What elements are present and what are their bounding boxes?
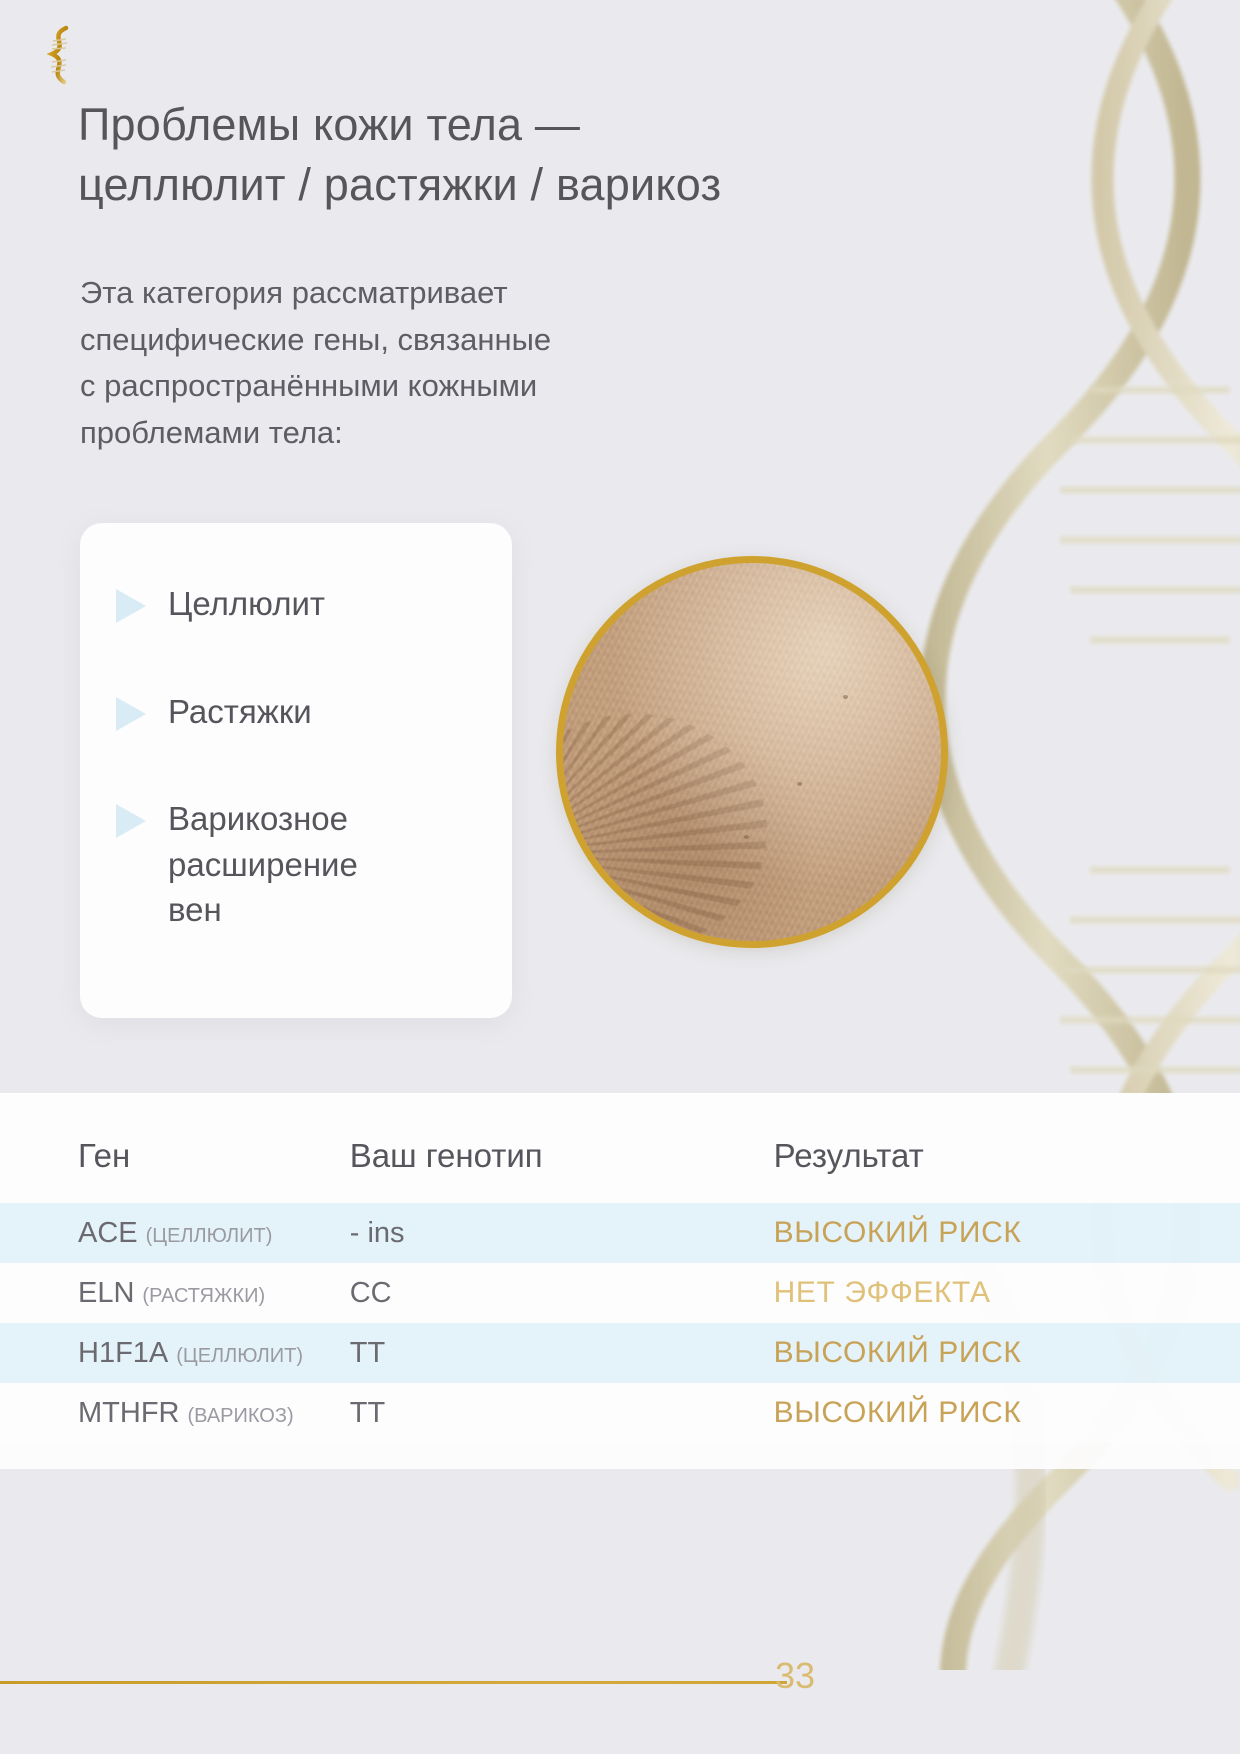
cell-result: ВЫСОКИЙ РИСК (774, 1383, 1240, 1443)
table-row: ACE(ЦЕЛЛЮЛИТ) - ins ВЫСОКИЙ РИСК (0, 1203, 1240, 1263)
cell-gene: ELN(РАСТЯЖКИ) (0, 1263, 350, 1323)
gene-results-section: Ген Ваш генотип Результат ACE(ЦЕЛЛЮЛИТ) … (0, 1093, 1240, 1469)
column-header-genotype: Ваш генотип (350, 1093, 774, 1203)
status-badge: ВЫСОКИЙ РИСК (774, 1396, 1022, 1429)
intro-line-4: проблемами тела: (80, 410, 840, 457)
cellulite-skin-photo (556, 556, 948, 948)
triangle-bullet-icon (116, 804, 146, 838)
triangle-bullet-icon (116, 589, 146, 623)
gene-name: H1F1A (78, 1337, 168, 1369)
intro-line-3: с распространёнными кожными (80, 363, 840, 410)
list-item: Растяжки (104, 689, 478, 735)
status-badge: ВЫСОКИЙ РИСК (774, 1336, 1022, 1369)
gene-note: (РАСТЯЖКИ) (142, 1285, 265, 1307)
skin-highlight-layer (563, 563, 941, 941)
footer-divider (0, 1681, 787, 1684)
column-header-result: Результат (774, 1093, 1240, 1203)
cell-genotype: TT (350, 1323, 774, 1383)
triangle-bullet-icon (116, 697, 146, 731)
intro-line-1: Эта категория рассматривает (80, 270, 840, 317)
cell-result: ВЫСОКИЙ РИСК (774, 1203, 1240, 1263)
list-item-label: Целлюлит (168, 581, 325, 627)
gene-name: ACE (78, 1217, 138, 1249)
page-title-line-1: Проблемы кожи тела — (78, 95, 938, 155)
list-item: Целлюлит (104, 581, 478, 627)
gene-note: (ЦЕЛЛЮЛИТ) (176, 1345, 303, 1367)
cell-genotype: TT (350, 1383, 774, 1443)
table-row: MTHFR(ВАРИКОЗ) TT ВЫСОКИЙ РИСК (0, 1383, 1240, 1443)
table-row: ELN(РАСТЯЖКИ) CC НЕТ ЭФФЕКТА (0, 1263, 1240, 1323)
dna-helix-logo-icon (36, 24, 82, 86)
cell-genotype: CC (350, 1263, 774, 1323)
gene-note: (ЦЕЛЛЮЛИТ) (146, 1225, 273, 1247)
intro-line-2: специфические гены, связанные (80, 317, 840, 364)
table-body: ACE(ЦЕЛЛЮЛИТ) - ins ВЫСОКИЙ РИСК ELN(РАС… (0, 1203, 1240, 1443)
gene-name: MTHFR (78, 1397, 179, 1429)
cell-gene: ACE(ЦЕЛЛЮЛИТ) (0, 1203, 350, 1263)
list-item-label: Растяжки (168, 689, 312, 735)
cell-result: ВЫСОКИЙ РИСК (774, 1323, 1240, 1383)
table-row: H1F1A(ЦЕЛЛЮЛИТ) TT ВЫСОКИЙ РИСК (0, 1323, 1240, 1383)
page-title-line-2: целлюлит / растяжки / варикоз (78, 155, 938, 215)
table-header: Ген Ваш генотип Результат (0, 1093, 1240, 1203)
intro-paragraph: Эта категория рассматривает специфически… (80, 270, 840, 456)
status-badge: ВЫСОКИЙ РИСК (774, 1216, 1022, 1249)
gene-note: (ВАРИКОЗ) (187, 1405, 293, 1427)
table-header-row: Ген Ваш генотип Результат (0, 1093, 1240, 1203)
list-item-label: Варикозное расширение вен (168, 796, 358, 933)
conditions-list: Целлюлит Растяжки Варикозное расширение … (104, 581, 478, 933)
cell-result: НЕТ ЭФФЕКТА (774, 1263, 1240, 1323)
cell-gene: H1F1A(ЦЕЛЛЮЛИТ) (0, 1323, 350, 1383)
page-number: 33 (735, 1655, 855, 1697)
list-item: Варикозное расширение вен (104, 796, 478, 933)
gene-results-table: Ген Ваш генотип Результат ACE(ЦЕЛЛЮЛИТ) … (0, 1093, 1240, 1443)
column-header-gene: Ген (0, 1093, 350, 1203)
status-badge: НЕТ ЭФФЕКТА (774, 1276, 991, 1309)
cell-gene: MTHFR(ВАРИКОЗ) (0, 1383, 350, 1443)
conditions-card: Целлюлит Растяжки Варикозное расширение … (80, 523, 512, 1018)
page-title: Проблемы кожи тела — целлюлит / растяжки… (78, 95, 938, 215)
gene-name: ELN (78, 1277, 134, 1309)
cell-genotype: - ins (350, 1203, 774, 1263)
